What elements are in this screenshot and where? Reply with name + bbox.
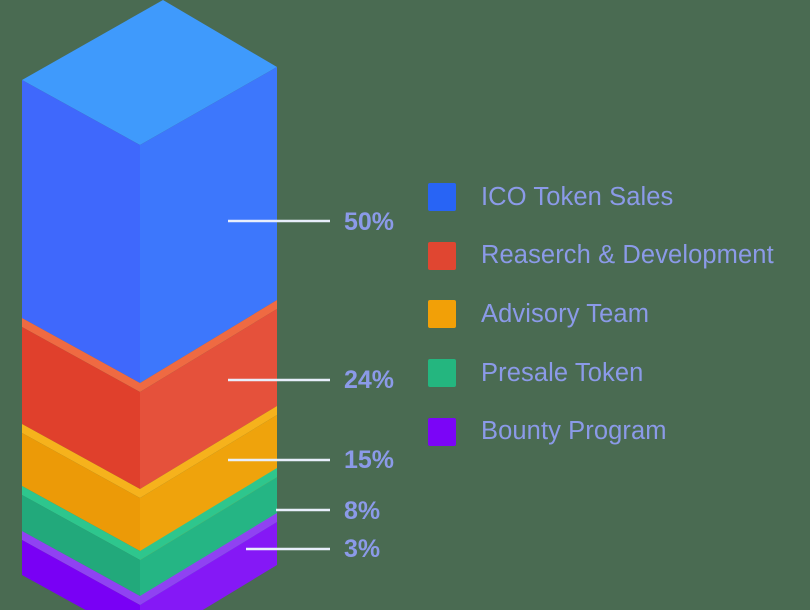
legend-item-label: Reaserch & Development xyxy=(481,241,774,270)
callout-label-0: 50% xyxy=(344,208,394,237)
legend-item-label: ICO Token Sales xyxy=(481,183,673,212)
legend-swatch-icon xyxy=(428,418,456,446)
legend-swatch-icon xyxy=(428,183,456,211)
callout-label-2: 15% xyxy=(344,446,394,475)
legend-item-advisory-team[interactable]: Advisory Team xyxy=(428,285,808,344)
legend-item-label: Presale Token xyxy=(481,359,643,388)
legend-item-label: Advisory Team xyxy=(481,300,649,329)
legend-swatch-icon xyxy=(428,300,456,328)
legend-item-presale-token[interactable]: Presale Token xyxy=(428,344,808,403)
chart-legend: ICO Token Sales Reaserch & Development A… xyxy=(428,168,808,461)
infographic-page: 50% 24% 15% 8% 3% ICO Token Sales Reaser… xyxy=(0,0,810,610)
legend-swatch-icon xyxy=(428,242,456,270)
callout-label-3: 8% xyxy=(344,497,380,526)
legend-item-bounty-program[interactable]: Bounty Program xyxy=(428,402,808,461)
legend-swatch-icon xyxy=(428,359,456,387)
legend-item-ico-token-sales[interactable]: ICO Token Sales xyxy=(428,168,808,227)
legend-item-label: Bounty Program xyxy=(481,417,667,446)
legend-item-research-development[interactable]: Reaserch & Development xyxy=(428,227,808,286)
callout-label-4: 3% xyxy=(344,535,380,564)
callout-label-1: 24% xyxy=(344,366,394,395)
